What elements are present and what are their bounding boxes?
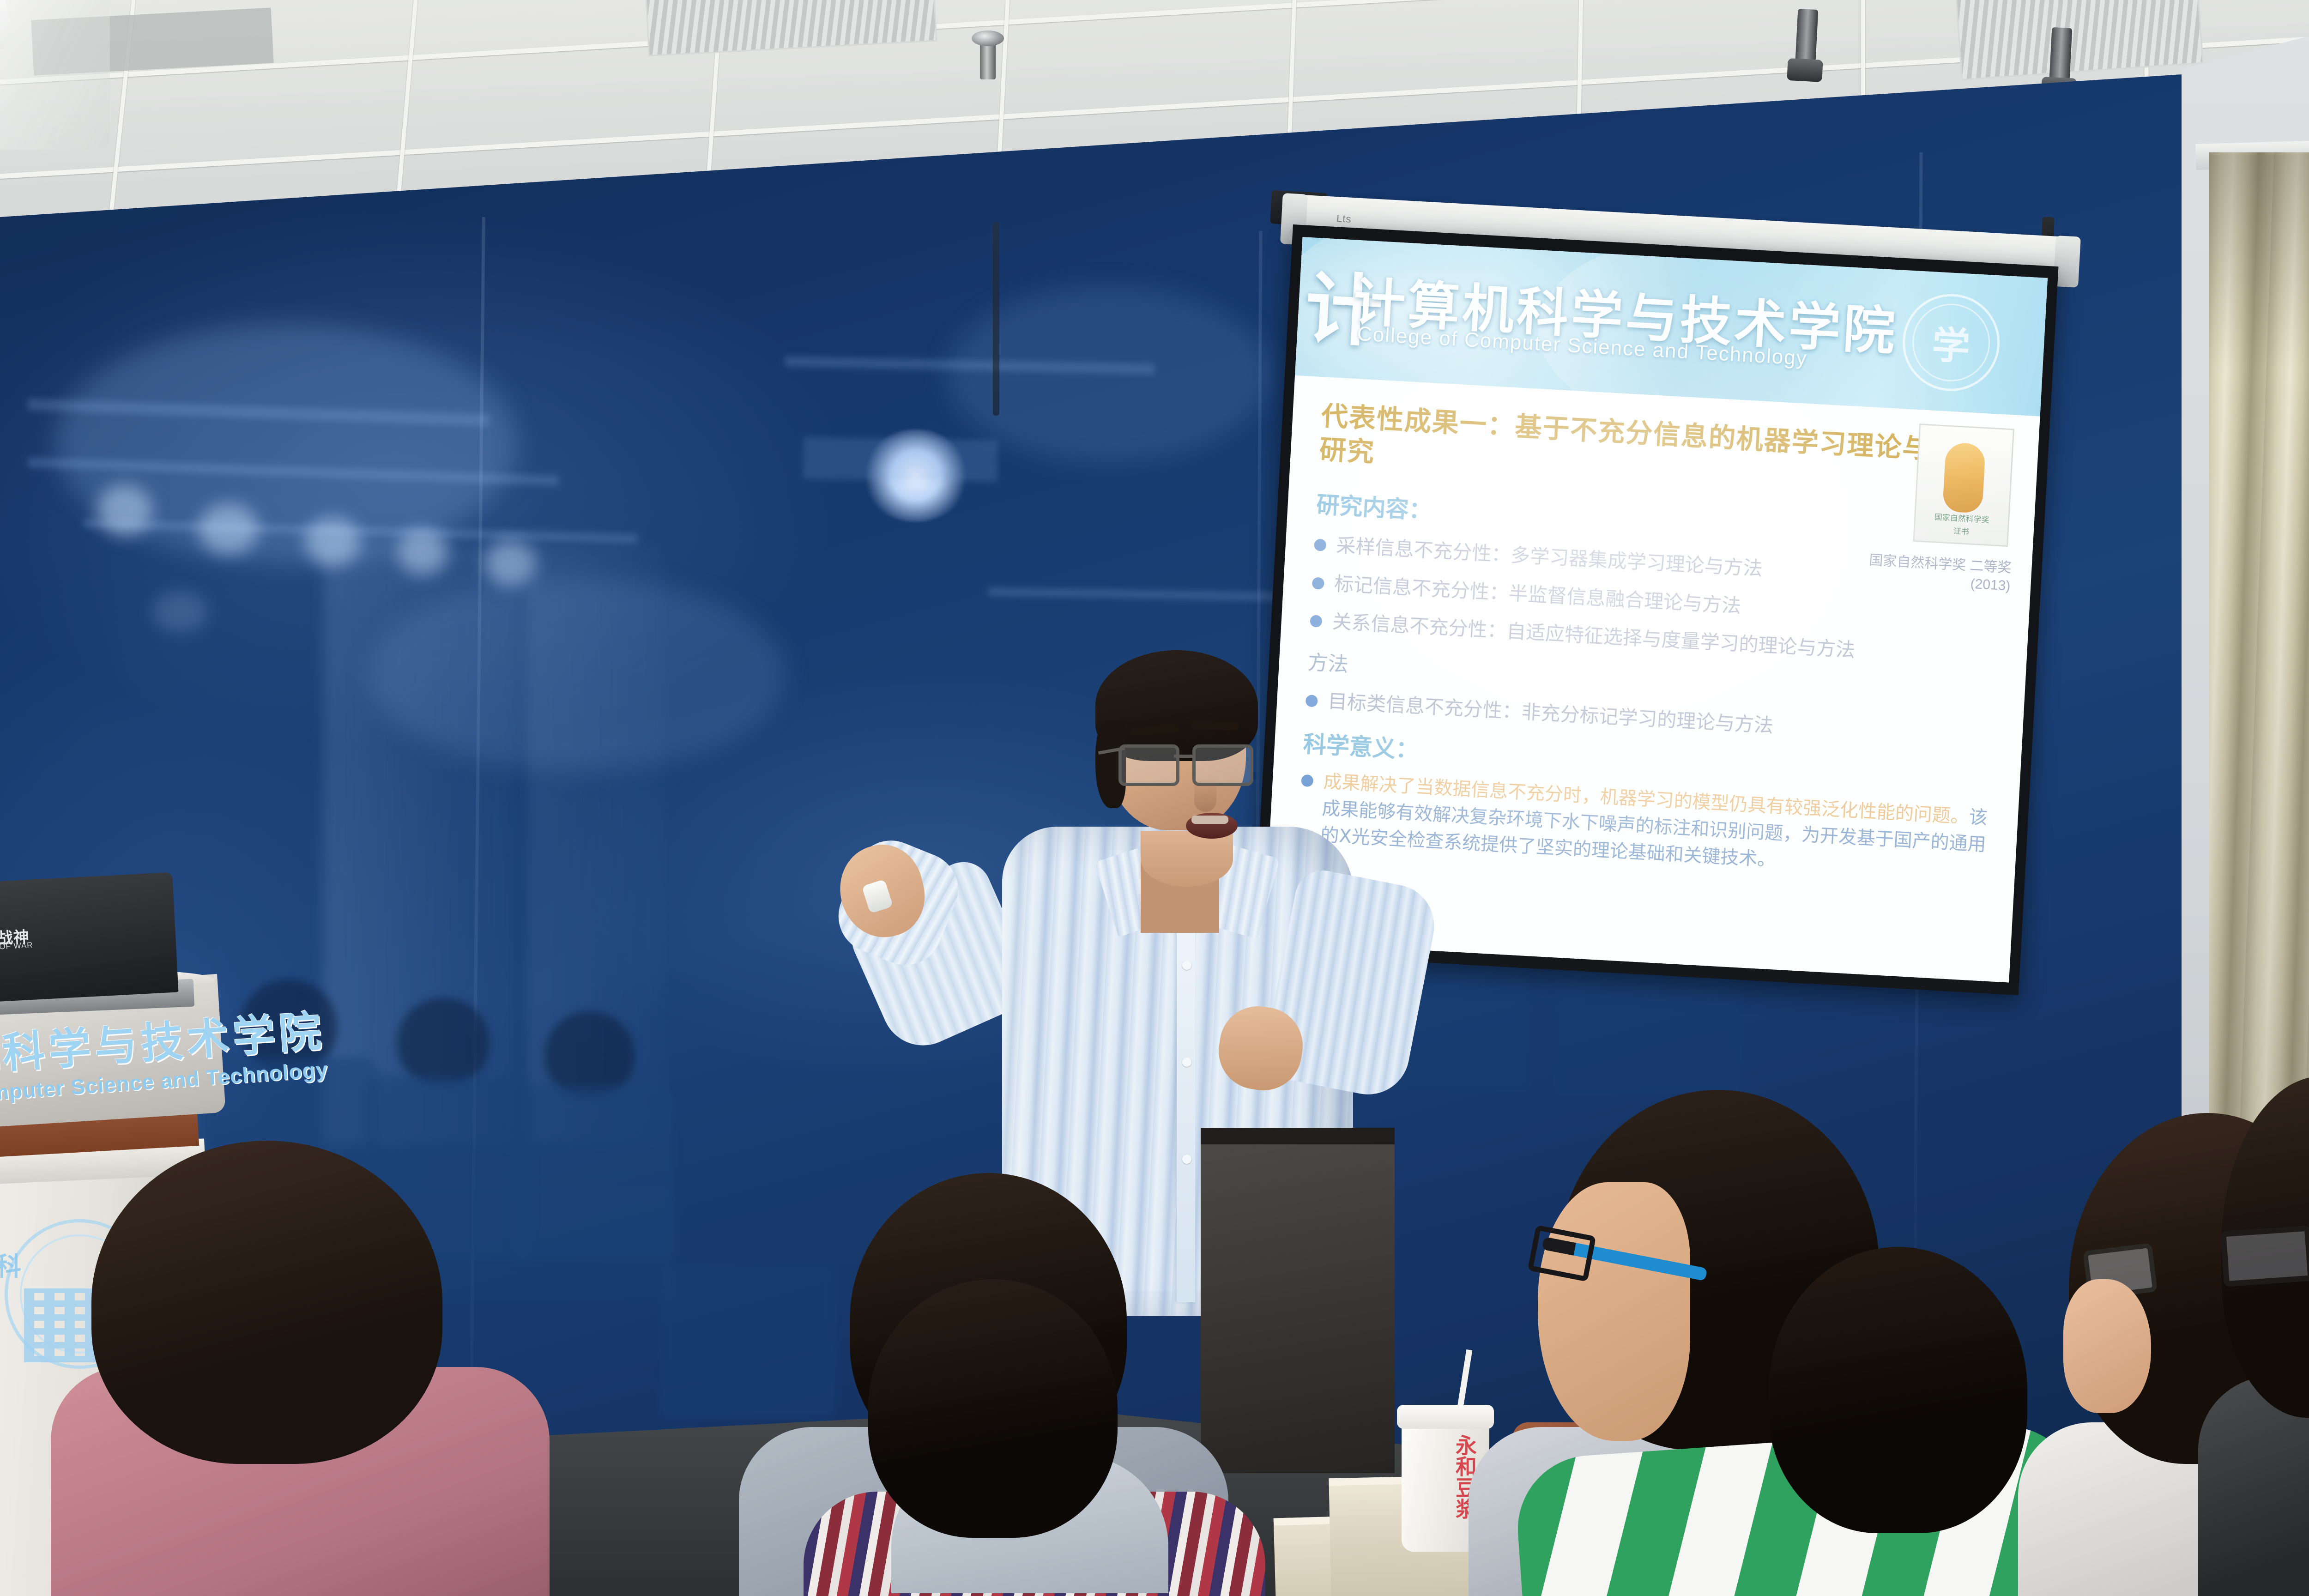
bullet-dot-icon <box>1306 695 1318 707</box>
significance-part-2: 的问题。 <box>1895 802 1970 828</box>
shirt-button <box>1182 961 1191 970</box>
presenter-eyebrow <box>1191 720 1239 731</box>
research-bullets: 采样信息不充分性：多学习器集成学习理论与方法 标记信息不充分性：半监督信息融合理… <box>1309 532 2004 672</box>
student-face <box>1538 1182 1690 1441</box>
laptop-brand-en: GOD OF WAR <box>0 941 33 953</box>
presenter-belt <box>1201 1128 1395 1144</box>
bullet-dot-icon <box>1314 539 1326 551</box>
bullet-dot-icon <box>1310 615 1322 628</box>
screen-brand-label: Lts <box>1336 212 1352 225</box>
window-curtain <box>2209 152 2309 1136</box>
plastic-bag <box>0 0 110 150</box>
medal-icon <box>1942 442 1986 513</box>
presenter-glasses-icon <box>1117 739 1251 783</box>
seal-glyph: 学 <box>1931 314 1971 371</box>
ceiling-sprinkler-icon <box>980 38 996 79</box>
ceiling-vent <box>1955 0 2204 80</box>
shirt-button <box>1182 1155 1191 1164</box>
presenter-chin <box>1141 831 1233 887</box>
student-glasses-icon <box>2220 1225 2309 1287</box>
slide-title: 代表性成果一：基于不充分信息的机器学习理论与方法研究 <box>1318 399 2011 504</box>
ceiling-spotlight-icon <box>1795 9 1819 70</box>
ceiling-spotlight-icon <box>2049 27 2073 88</box>
lecture-hall-photo: Lts 计 计算机科学与技术学院 College of Computer Sci… <box>0 0 2309 1596</box>
ceiling-vent <box>645 0 937 56</box>
student-hair <box>868 1279 1118 1538</box>
student-hair <box>91 1141 442 1464</box>
emblem-glyph: 科 <box>0 1246 21 1283</box>
cup-lid <box>1397 1405 1494 1429</box>
presenter-trousers <box>1201 1131 1395 1473</box>
laptop-lid[interactable]: 战神 GOD OF WAR <box>0 872 179 1003</box>
presenter-mouth <box>1186 813 1238 839</box>
slide-surface: 计 计算机科学与技术学院 College of Computer Science… <box>1264 237 2048 982</box>
shirt-button <box>1182 1058 1191 1067</box>
bullet-dot-icon <box>1312 577 1324 589</box>
student-hair <box>1769 1247 2027 1533</box>
ceiling-hanger <box>993 222 999 416</box>
student-hand <box>2063 1279 2151 1413</box>
bullet-dot-icon <box>1301 774 1313 787</box>
award-certificate-image: 国家自然科学奖 证书 <box>1913 423 2014 547</box>
university-seal-icon: 学 <box>1900 291 2002 393</box>
presenter-nose <box>1194 778 1216 812</box>
